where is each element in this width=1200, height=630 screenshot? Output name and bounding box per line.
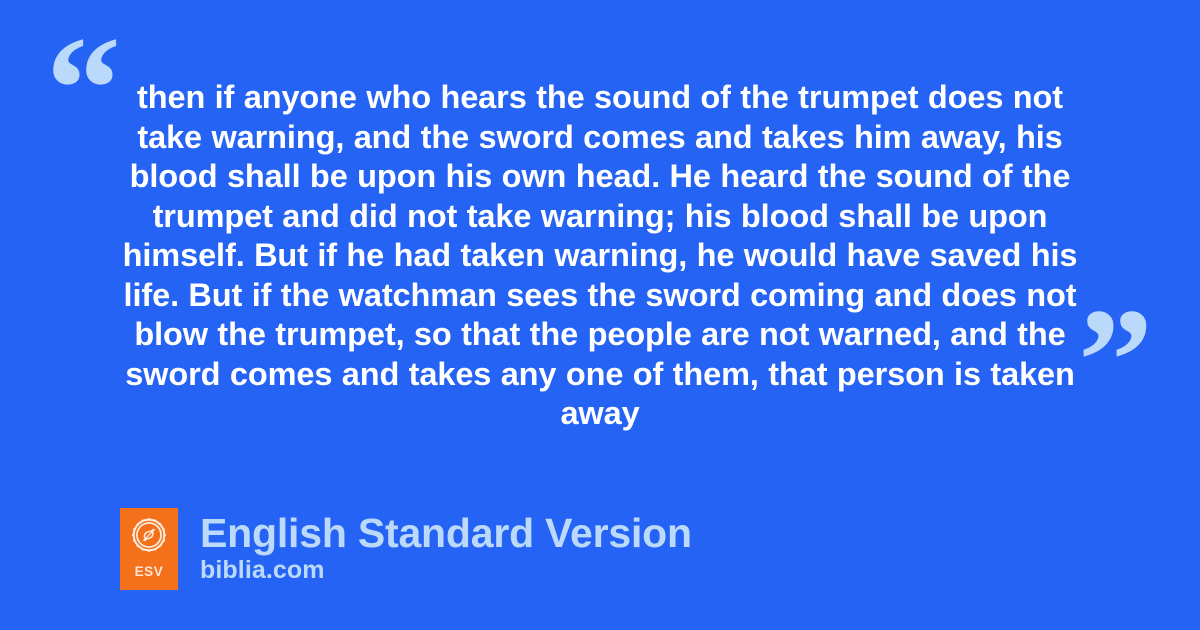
scripture-quote-text: then if anyone who hears the sound of th… [100,78,1100,434]
site-domain-label: biblia.com [200,556,692,584]
quote-card: “ then if anyone who hears the sound of … [0,0,1200,630]
esv-logo-badge: ESV [120,508,178,590]
bible-version-name: English Standard Version [200,510,692,556]
quote-block: then if anyone who hears the sound of th… [100,78,1100,434]
attribution-text: English Standard Version biblia.com [200,508,692,584]
attribution-footer: ESV English Standard Version biblia.com [120,508,692,590]
close-quote-icon: ” [1078,286,1154,436]
esv-seal-icon [132,518,166,552]
esv-badge-label: ESV [120,564,178,579]
